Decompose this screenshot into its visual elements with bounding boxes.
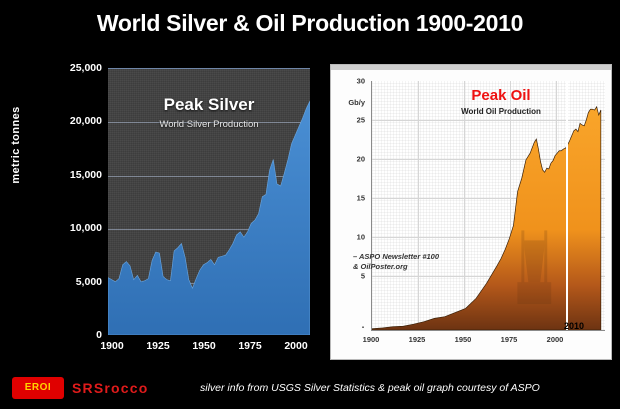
silver-y-axis-label: metric tonnes (10, 85, 22, 205)
oil-ytick-30: 30 (331, 77, 365, 86)
oil-area-series (372, 81, 605, 330)
page-title: World Silver & Oil Production 1900-2010 (0, 10, 620, 37)
oil-xtick-1950: 1950 (443, 335, 483, 344)
silver-ytick-10000: 10,000 (54, 222, 102, 234)
oil-ytick-15: 15 (331, 194, 365, 203)
silver-xtick-1950: 1950 (179, 340, 229, 352)
silver-xtick-2000: 2000 (271, 340, 321, 352)
oil-ytick-10: 10 (331, 233, 365, 242)
chart-page: World Silver & Oil Production 1900-2010 … (0, 0, 620, 409)
oil-xtick-1900: 1900 (351, 335, 391, 344)
silver-y-axis: 25,000 20,000 15,000 10,000 5,000 0 (50, 55, 102, 335)
silver-xtick-1975: 1975 (225, 340, 275, 352)
silver-xtick-1900: 1900 (87, 340, 137, 352)
source-credit: silver info from USGS Silver Statistics … (200, 382, 610, 394)
oil-plot-area (371, 81, 605, 331)
oil-rig-silhouette (517, 230, 551, 304)
oil-ytick-0: · (331, 323, 365, 334)
silver-ytick-15000: 15,000 (54, 169, 102, 181)
silver-plot-area: Peak Silver World Silver Production (108, 68, 310, 335)
silver-subheading: World Silver Production (108, 119, 310, 130)
eroi-logo: EROI (12, 377, 64, 399)
oil-heading: Peak Oil (426, 87, 576, 104)
oil-xtick-2000: 2000 (535, 335, 575, 344)
brand-name: SRSrocco (72, 380, 149, 396)
oil-ytick-20: 20 (331, 155, 365, 164)
silver-xtick-1925: 1925 (133, 340, 183, 352)
eroi-logo-text: EROI (12, 382, 64, 393)
oil-unit-label: Gb/y (331, 98, 365, 107)
oil-subheading: World Oil Production (426, 107, 576, 116)
oil-xtick-1925: 1925 (397, 335, 437, 344)
oil-2010-marker (566, 81, 568, 331)
oil-xtick-1975: 1975 (489, 335, 529, 344)
silver-ytick-20000: 20,000 (54, 115, 102, 127)
footer: EROI SRSrocco silver info from USGS Silv… (0, 372, 620, 409)
oil-ytick-5: 5 (331, 272, 365, 281)
oil-source-note: – ASPO Newsletter #100 & OilPoster.org (353, 252, 439, 272)
oil-2010-label: 2010 (564, 321, 584, 331)
oil-ytick-25: 25 (331, 116, 365, 125)
oil-chart: Gb/y 30 25 20 15 10 5 · (330, 64, 612, 360)
silver-heading: Peak Silver (108, 95, 310, 115)
silver-ytick-25000: 25,000 (54, 62, 102, 74)
oil-chart-topbar (331, 65, 611, 70)
silver-ytick-5000: 5,000 (54, 276, 102, 288)
silver-chart: metric tonnes 25,000 20,000 15,000 10,00… (0, 55, 320, 375)
